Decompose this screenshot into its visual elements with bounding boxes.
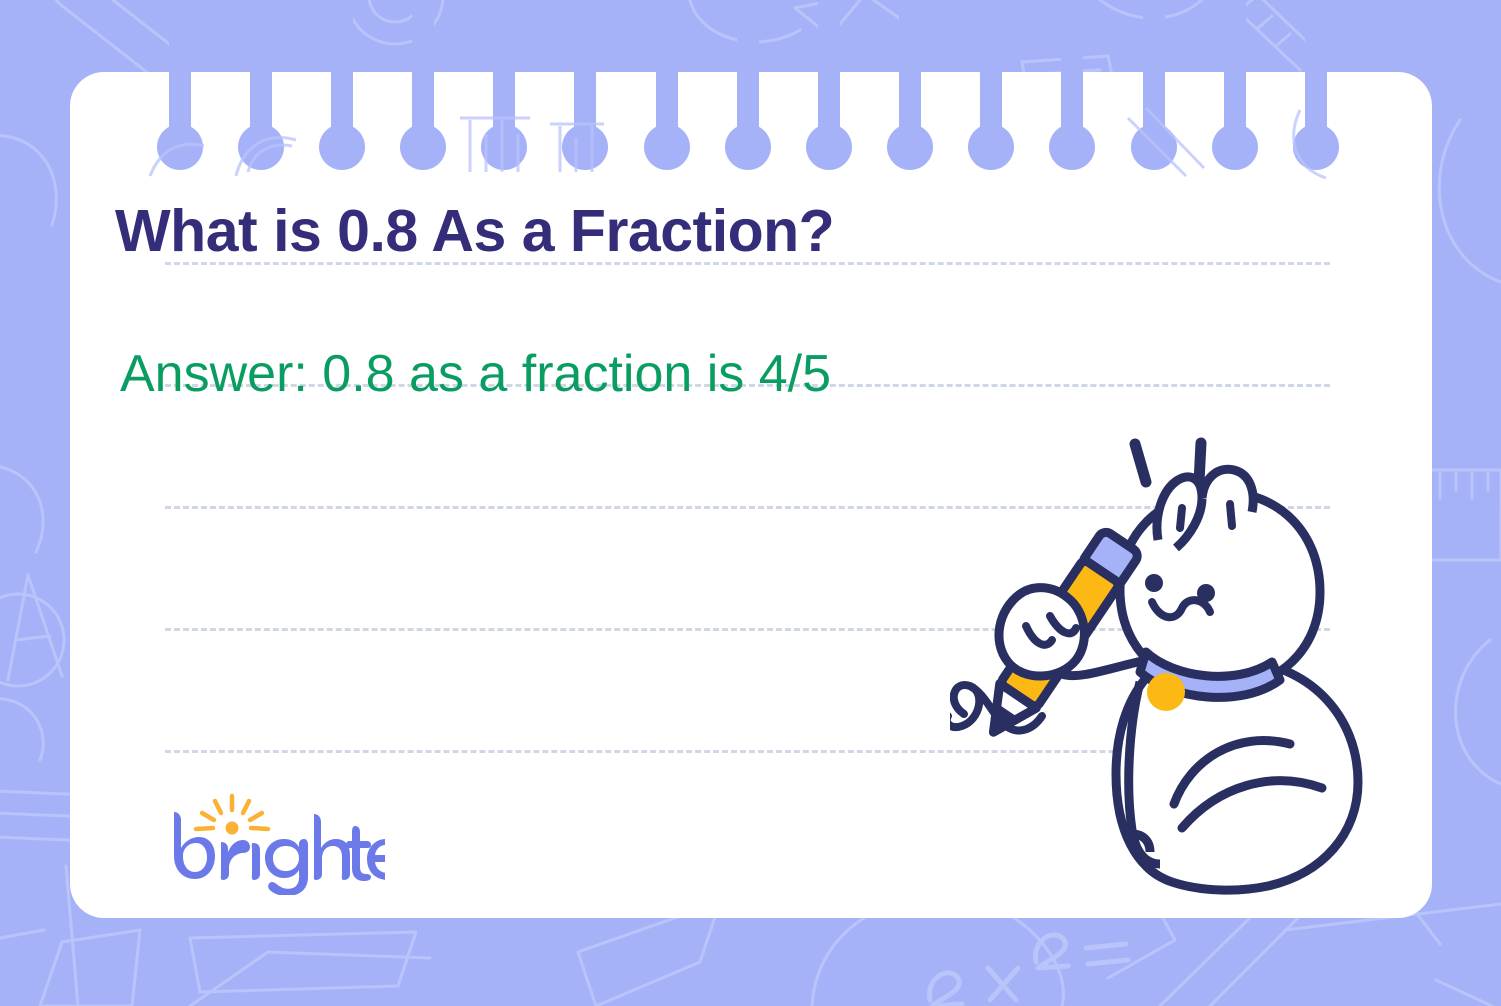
brighterly-logo [165, 790, 385, 895]
logo-wordmark [174, 812, 385, 895]
poster-stage: What is 0.8 As a Fraction? Answer: 0.8 a… [0, 0, 1501, 1006]
page-title: What is 0.8 As a Fraction? [115, 197, 834, 265]
notebook-card: What is 0.8 As a Fraction? Answer: 0.8 a… [70, 72, 1432, 918]
answer-text: Answer: 0.8 as a fraction is 4/5 [120, 344, 831, 404]
bunny-mascot-illustration [950, 430, 1370, 900]
